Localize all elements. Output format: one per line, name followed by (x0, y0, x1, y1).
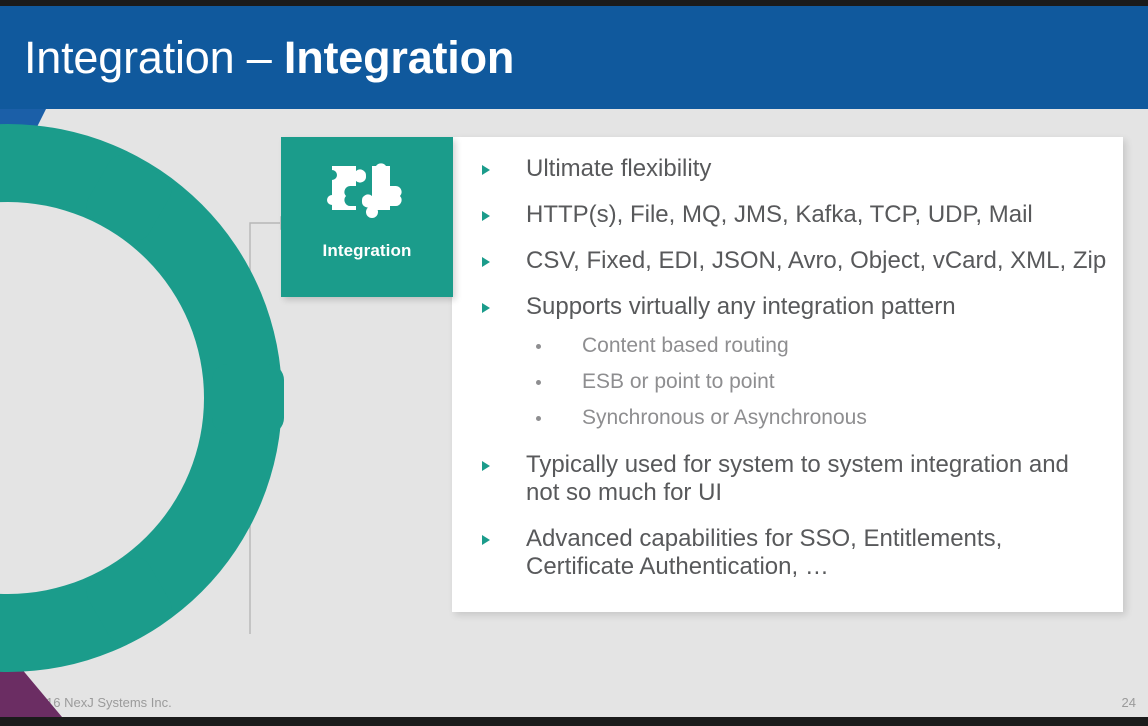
bottom-edge-strip (0, 717, 1148, 726)
top-edge-strip (0, 0, 1148, 6)
bullet-item: Advanced capabilities for SSO, Entitleme… (474, 525, 1107, 581)
integration-ring-graphic: Integration (0, 118, 288, 678)
bullet-list: Ultimate flexibility HTTP(s), File, MQ, … (474, 155, 1107, 599)
bullet-item: CSV, Fixed, EDI, JSON, Avro, Object, vCa… (474, 247, 1107, 275)
page-title-light: Integration – (24, 32, 284, 83)
page-title: Integration – Integration (24, 27, 514, 89)
bullet-item: HTTP(s), File, MQ, JMS, Kafka, TCP, UDP,… (474, 201, 1107, 229)
bullet-item: Ultimate flexibility (474, 155, 1107, 183)
content-card: Ultimate flexibility HTTP(s), File, MQ, … (452, 137, 1123, 612)
integration-tile[interactable]: Integration (281, 137, 453, 297)
sub-bullet-item: ESB or point to point (474, 369, 1107, 395)
tile-label: Integration (281, 241, 453, 261)
sub-bullet-item: Synchronous or Asynchronous (474, 405, 1107, 431)
bullet-item: Supports virtually any integration patte… (474, 293, 1107, 321)
sub-bullet-item: Content based routing (474, 333, 1107, 359)
puzzle-pieces-icon (318, 156, 416, 233)
title-banner: Integration – Integration (0, 5, 1148, 109)
page-title-bold: Integration (284, 32, 514, 83)
footer-page-number: 24 (1122, 695, 1136, 710)
slide: Integration Integration Ultimate flexibi… (0, 0, 1148, 726)
bullet-item: Typically used for system to system inte… (474, 451, 1107, 507)
